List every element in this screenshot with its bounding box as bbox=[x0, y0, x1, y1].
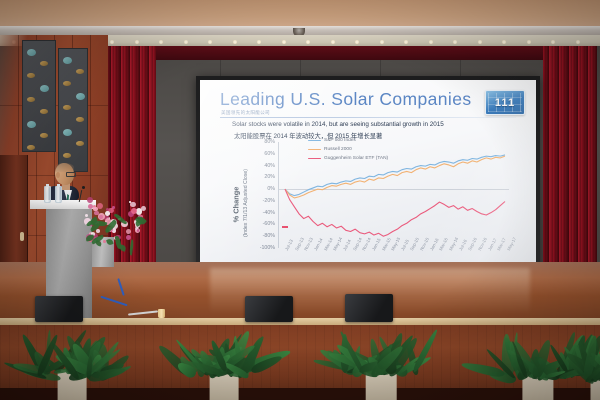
potted-plant bbox=[330, 290, 432, 400]
solar-panel-icon: 111 bbox=[485, 90, 525, 115]
title-divider bbox=[220, 117, 516, 118]
spotlight-icon bbox=[355, 40, 359, 44]
slide-subtitle-english: Solar stocks were volatile in 2014, but … bbox=[232, 121, 444, 128]
speaker-glasses-icon bbox=[66, 172, 76, 177]
spotlight-icon bbox=[331, 40, 335, 44]
slide-title-chinese: 美国领先的太阳能公司 bbox=[221, 110, 270, 116]
wall-art-disc bbox=[76, 141, 84, 146]
y-axis-tick-label: -80% bbox=[263, 233, 275, 239]
flower-petal bbox=[126, 235, 131, 240]
wall-art-disc bbox=[40, 85, 49, 92]
metal-wall-art-icon bbox=[58, 48, 88, 172]
flower-petal bbox=[105, 211, 110, 216]
logo-mark: 111 bbox=[486, 91, 524, 114]
flower-petal bbox=[126, 229, 131, 234]
spotlight-icon bbox=[257, 40, 261, 44]
spotlight-icon bbox=[282, 40, 286, 44]
spotlight-icon bbox=[576, 40, 580, 44]
y-axis-tick-label: 40% bbox=[264, 163, 275, 169]
spotlight-icon bbox=[453, 40, 457, 44]
wall-art-disc bbox=[40, 61, 48, 66]
line-chart: % Change (Index 7/1/13 Adjusted Close) 8… bbox=[222, 138, 522, 266]
wall-art-disc bbox=[63, 153, 71, 158]
chart-legend: S&P 500 IndexRussell 2000Guggenheim Sola… bbox=[308, 138, 388, 165]
presentation-slide: Leading U.S. Solar Companies 美国领先的太阳能公司 … bbox=[200, 80, 536, 272]
y-axis-ticks: 80%60%40%20%0%-20%-40%-60%-80%-100% bbox=[250, 142, 276, 248]
spotlight-icon bbox=[208, 40, 212, 44]
legend-item: S&P 500 Index bbox=[308, 138, 388, 143]
legend-item: Guggenheim Solar ETF (TAN) bbox=[308, 156, 388, 161]
y-axis-tick-label: -60% bbox=[263, 221, 275, 227]
metal-wall-art-icon bbox=[22, 40, 56, 152]
water-bottle[interactable] bbox=[44, 186, 51, 203]
wall-art-disc bbox=[40, 133, 48, 138]
wall-art-disc bbox=[76, 69, 84, 74]
y-axis-tick-label: 20% bbox=[264, 174, 275, 180]
microphone-icon[interactable] bbox=[82, 186, 85, 189]
y-axis-label-text: % Change bbox=[232, 186, 241, 222]
legend-label: Guggenheim Solar ETF (TAN) bbox=[324, 156, 388, 161]
wall-art-disc bbox=[27, 49, 36, 56]
y-axis-tick-label: 60% bbox=[264, 151, 275, 157]
spotlight-icon bbox=[159, 40, 163, 44]
door-handle-icon[interactable] bbox=[20, 232, 24, 241]
flower-leaf bbox=[106, 238, 113, 245]
spotlight-icon bbox=[233, 40, 237, 44]
wall-art-disc bbox=[76, 93, 85, 100]
curtain-valance bbox=[95, 46, 557, 60]
wall-art-disc bbox=[40, 109, 48, 114]
potted-plant bbox=[566, 312, 600, 400]
legend-label: Russell 2000 bbox=[324, 147, 352, 152]
spotlight-icon bbox=[502, 40, 506, 44]
legend-swatch bbox=[308, 140, 321, 142]
spotlight-icon bbox=[429, 40, 433, 44]
flower-petal bbox=[141, 206, 146, 211]
flower-petal bbox=[85, 214, 88, 217]
y-axis-sublabel-text: (Index 7/1/13 Adjusted Close) bbox=[243, 169, 249, 237]
legend-item: Russell 2000 bbox=[308, 147, 388, 152]
spotlight-icon bbox=[306, 40, 310, 44]
auditorium-scene: Leading U.S. Solar Companies 美国领先的太阳能公司 … bbox=[0, 0, 600, 400]
slide-title: Leading U.S. Solar Companies bbox=[220, 89, 471, 110]
spotlight-icon bbox=[110, 40, 114, 44]
spotlight-icon bbox=[478, 40, 482, 44]
legend-label: S&P 500 Index bbox=[324, 138, 356, 143]
speaker-hair bbox=[55, 163, 74, 172]
spotlight-icon bbox=[551, 40, 555, 44]
spotlight-icon bbox=[135, 40, 139, 44]
flower-petal bbox=[130, 202, 135, 207]
speaker-ear bbox=[56, 172, 60, 178]
potted-plant bbox=[24, 300, 120, 400]
wall-art-disc bbox=[27, 73, 35, 78]
wall-art-disc bbox=[63, 81, 71, 86]
flower-petal bbox=[97, 203, 103, 209]
spotlight-icon bbox=[380, 40, 384, 44]
flower-petal bbox=[99, 215, 103, 219]
chart-series-line bbox=[285, 189, 505, 236]
y-axis-tick-label: -40% bbox=[263, 210, 275, 216]
spotlight-icon bbox=[527, 40, 531, 44]
y-axis-tick-label: -20% bbox=[263, 198, 275, 204]
wall-art-disc bbox=[63, 129, 72, 136]
flower-petal bbox=[129, 201, 131, 203]
spotlight-icon bbox=[404, 40, 408, 44]
spotlight-icon bbox=[184, 40, 188, 44]
projection-screen: Leading U.S. Solar Companies 美国领先的太阳能公司 … bbox=[200, 80, 536, 272]
flower-petal bbox=[106, 208, 109, 211]
legend-swatch bbox=[308, 149, 321, 151]
curtain-fold bbox=[153, 46, 156, 296]
wall-art-disc bbox=[76, 117, 84, 122]
wall-art-disc bbox=[27, 121, 36, 128]
wall-art-disc bbox=[27, 97, 35, 102]
potted-plant bbox=[176, 294, 272, 400]
legend-swatch bbox=[308, 158, 321, 160]
flower-petal bbox=[87, 197, 93, 203]
y-axis-tick-label: 80% bbox=[264, 139, 275, 145]
podium-flowers bbox=[84, 196, 146, 248]
water-bottle[interactable] bbox=[55, 186, 62, 203]
y-axis-tick-label: -100% bbox=[260, 245, 275, 251]
stage-cup bbox=[158, 309, 165, 318]
chart-annotation-marker bbox=[282, 226, 288, 228]
wall-art-disc bbox=[63, 105, 71, 110]
flower-petal bbox=[96, 229, 100, 233]
wall-art-disc bbox=[27, 145, 35, 150]
wall-art-disc bbox=[63, 57, 72, 64]
y-axis-tick-label: 0% bbox=[267, 186, 275, 192]
